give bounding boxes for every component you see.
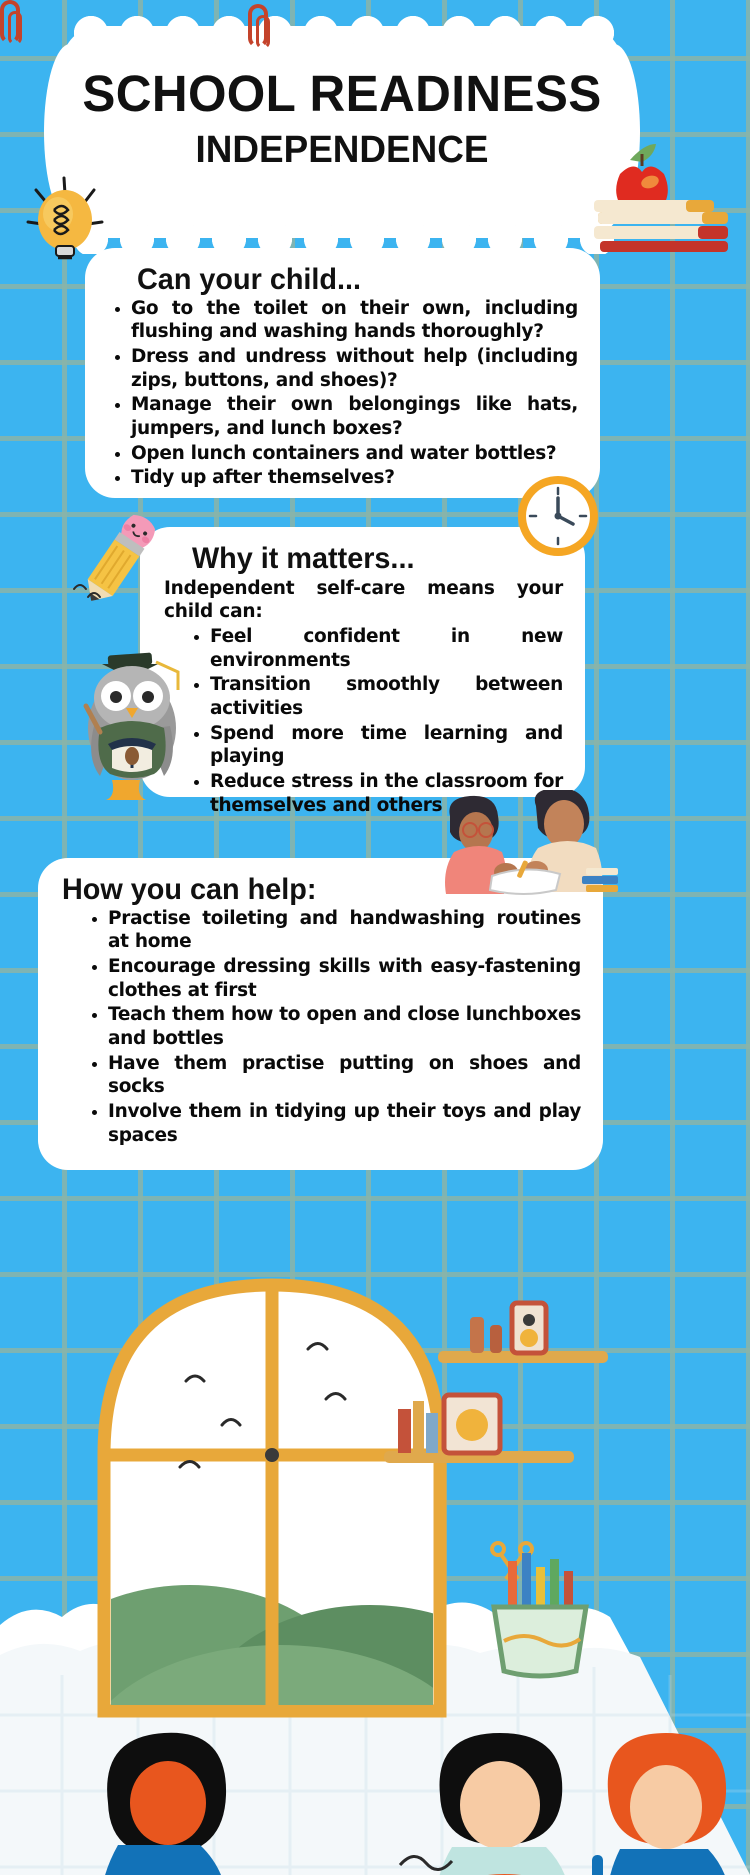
benefits-list: Feel confident in new environments Trans… — [188, 625, 563, 817]
section-heading-3: How you can help: — [62, 874, 560, 906]
paperclip-right-icon — [248, 4, 268, 48]
list-item: Manage their own belongings like hats, j… — [109, 393, 578, 440]
list-item: Reduce stress in the classroom for thems… — [188, 770, 563, 817]
checklist-can-your-child: Go to the toilet on their own, including… — [109, 297, 578, 490]
title-cloud-card: SCHOOL READINESS INDEPENDENCE — [62, 26, 622, 238]
pencil-cup-icon — [492, 1543, 586, 1676]
list-item: Tidy up after themselves? — [109, 466, 578, 490]
list-item: Have them practise putting on shoes and … — [86, 1052, 581, 1099]
list-item: Teach them how to open and close lunchbo… — [86, 1003, 581, 1050]
list-item: Dress and undress without help (includin… — [109, 345, 578, 392]
paperclip-left-icon — [0, 0, 20, 44]
section-heading-1: Can your child... — [137, 264, 560, 296]
list-item: Spend more time learning and playing — [188, 722, 563, 769]
list-item: Transition smoothly between activities — [188, 673, 563, 720]
bottom-illustration-scene — [0, 1155, 750, 1875]
page-subtitle: INDEPENDENCE — [70, 131, 613, 169]
card-how-you-can-help: How you can help: Practise toileting and… — [38, 858, 603, 1170]
list-item: Encourage dressing skills with easy-fast… — [86, 955, 581, 1002]
card-why-it-matters: Why it matters... Independent self-care … — [140, 527, 585, 797]
list-item: Involve them in tidying up their toys an… — [86, 1100, 581, 1147]
tips-list: Practise toileting and handwashing routi… — [86, 907, 581, 1148]
list-item: Open lunch containers and water bottles? — [109, 442, 578, 466]
list-item: Practise toileting and handwashing routi… — [86, 907, 581, 954]
card-can-your-child: Can your child... Go to the toilet on th… — [85, 248, 600, 498]
list-item: Go to the toilet on their own, including… — [109, 297, 578, 344]
section-heading-2: Why it matters... — [192, 543, 548, 575]
list-item: Feel confident in new environments — [188, 625, 563, 672]
section-lead-2: Independent self-care means your child c… — [164, 577, 563, 624]
page-title: SCHOOL READINESS — [70, 68, 613, 119]
